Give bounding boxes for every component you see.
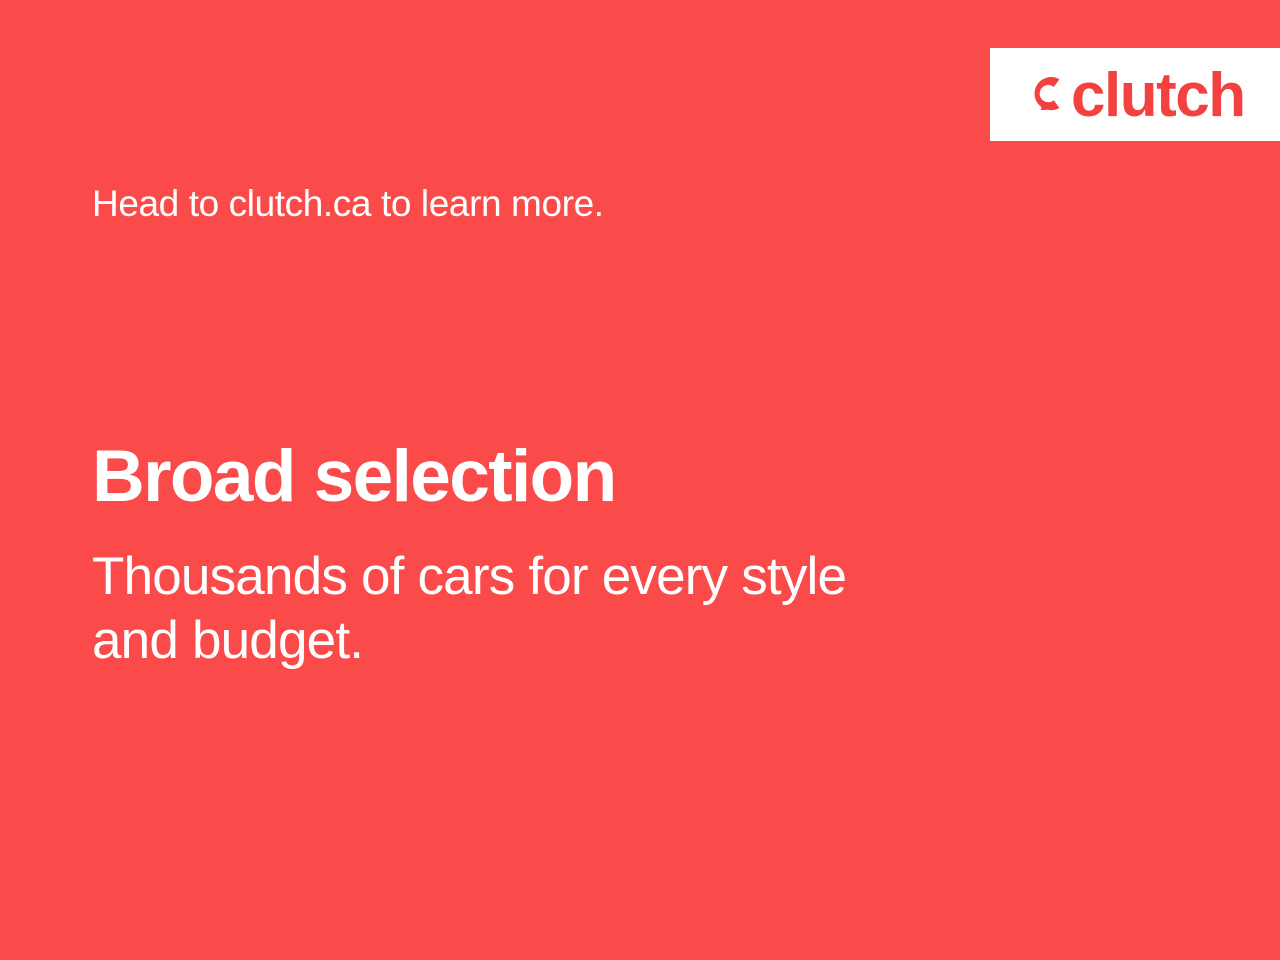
brand-wordmark: clutch <box>1071 72 1245 120</box>
brand-logo-box[interactable]: clutch <box>990 48 1280 141</box>
subhead-line-1: Thousands of cars for every style <box>92 545 1052 609</box>
clutch-plate-icon <box>1022 69 1068 119</box>
eyebrow-text: Head to clutch.ca to learn more. <box>92 181 604 227</box>
brand-logo-lockup: clutch <box>1022 69 1245 120</box>
page-title: Broad selection <box>92 437 616 517</box>
slide-canvas: clutch Head to clutch.ca to learn more. … <box>0 0 1280 960</box>
subhead-line-2: and budget. <box>92 609 1052 673</box>
subhead-text: Thousands of cars for every style and bu… <box>92 545 1052 673</box>
